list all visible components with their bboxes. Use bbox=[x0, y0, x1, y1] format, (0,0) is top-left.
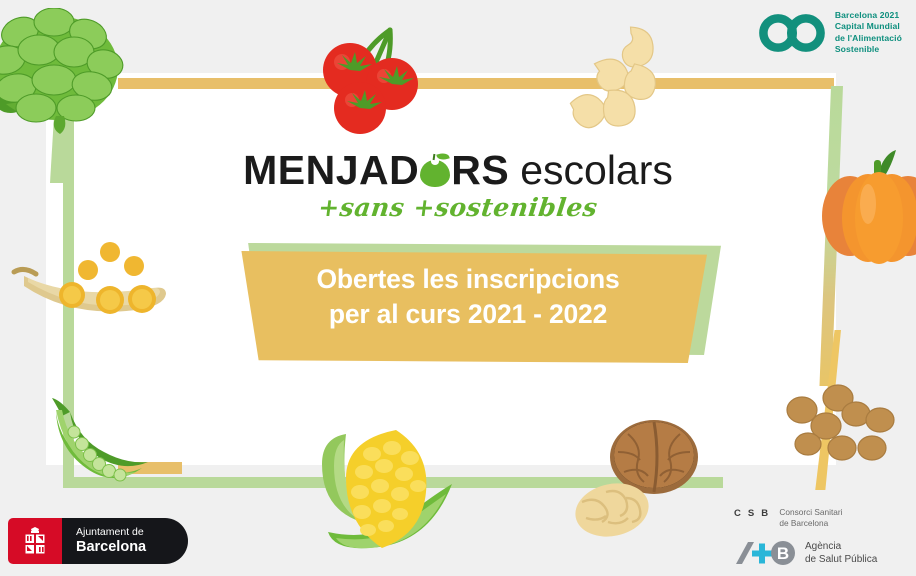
lentils-illustration bbox=[780, 378, 896, 464]
barcelona-crest-icon bbox=[22, 526, 48, 556]
walnut-kernel-illustration bbox=[572, 478, 652, 540]
aspb-line2: de Salut Pública bbox=[805, 553, 877, 566]
banner-text: Obertes les inscripcions per al curs 202… bbox=[229, 262, 707, 332]
cherry-tomatoes-illustration bbox=[318, 22, 434, 134]
green-pea-pods-illustration bbox=[24, 388, 166, 494]
aspb-logo: B Agència de Salut Pública bbox=[734, 540, 904, 566]
csb-line1: Consorci Sanitari bbox=[779, 507, 842, 518]
bcn2021-line2: Capital Mundial bbox=[835, 21, 902, 32]
bcn2021-line1: Barcelona 2021 bbox=[835, 10, 902, 21]
ajuntament-crest-block bbox=[8, 518, 62, 564]
green-apple-icon bbox=[420, 155, 450, 187]
aspb-plus-b-icon: B bbox=[734, 540, 796, 566]
barcelona-2021-logo: Barcelona 2021 Capital Mundial de l'Alim… bbox=[758, 10, 902, 56]
csb-logo: C S B Consorci Sanitari de Barcelona bbox=[734, 507, 904, 529]
frame-bar-top bbox=[118, 78, 834, 89]
menjadors-word-end: RS bbox=[451, 150, 509, 191]
partner-logos: C S B Consorci Sanitari de Barcelona B A… bbox=[734, 507, 904, 566]
menjadors-word-start: MENJAD bbox=[243, 150, 419, 191]
headline-logo: MENJAD RS escolars +sans +sostenibles bbox=[0, 150, 916, 222]
soy-bean-pod-illustration bbox=[6, 238, 176, 344]
headline-tagline: +sans +sostenibles bbox=[0, 193, 916, 222]
ajuntament-line2: Barcelona bbox=[76, 539, 188, 556]
escolars-word: escolars bbox=[520, 150, 673, 191]
banner-line2: per al curs 2021 - 2022 bbox=[229, 297, 707, 332]
corn-cob-illustration bbox=[300, 402, 462, 576]
menjadors-wordmark: MENJAD RS escolars bbox=[243, 150, 673, 191]
csb-line2: de Barcelona bbox=[779, 518, 842, 529]
cashew-nuts-illustration bbox=[566, 18, 668, 134]
svg-text:B: B bbox=[777, 544, 789, 563]
ajuntament-barcelona-logo: Ajuntament de Barcelona bbox=[8, 518, 188, 564]
aspb-line1: Agència bbox=[805, 540, 877, 553]
bcn2021-line3: de l'Alimentació bbox=[835, 33, 902, 44]
ajuntament-line1: Ajuntament de bbox=[76, 526, 188, 539]
bcn2021-line4: Sostenible bbox=[835, 44, 902, 55]
infinity-icon bbox=[758, 11, 826, 55]
poster-canvas: Barcelona 2021 Capital Mundial de l'Alim… bbox=[0, 0, 916, 576]
ajuntament-text-block: Ajuntament de Barcelona bbox=[62, 518, 188, 564]
csb-mark: C S B bbox=[734, 507, 770, 519]
banner-line1: Obertes les inscripcions bbox=[229, 262, 707, 297]
